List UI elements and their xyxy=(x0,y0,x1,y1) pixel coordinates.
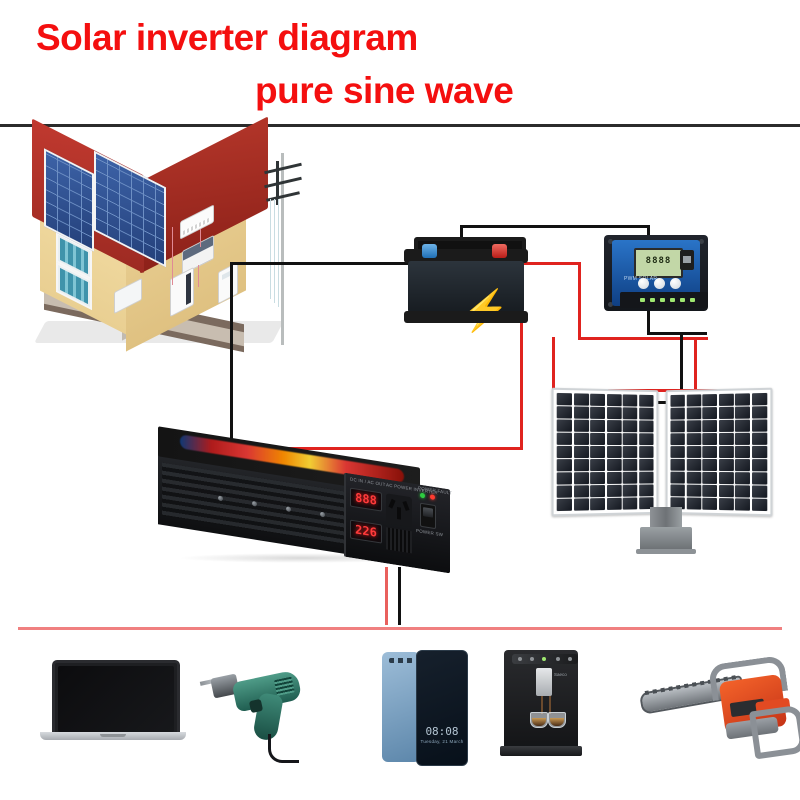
house-wiring-run-3 xyxy=(198,265,199,287)
laptop-screen xyxy=(58,666,174,732)
controller-button-set[interactable] xyxy=(638,278,649,289)
device-electric-drill xyxy=(200,654,320,760)
wire-array-feeder-left xyxy=(552,337,555,389)
service-drop-wire-3 xyxy=(278,199,279,307)
controller-front-panel: 8888 PWM SOLAR xyxy=(612,240,700,306)
coffee-cup-right xyxy=(548,712,566,728)
wire-battery-neg-top-horizontal xyxy=(460,225,650,228)
controller-led-6 xyxy=(690,298,695,302)
inverter-ac-outlet[interactable] xyxy=(386,493,412,527)
coffee-machine-body: Saeco xyxy=(504,650,578,752)
controller-led-3 xyxy=(660,298,665,302)
power-inverter-unit: DC IN / AC OUT AC POWER INVERTER POWER F… xyxy=(158,447,454,572)
devices-divider-rule xyxy=(18,627,782,630)
wire-battery-neg-to-inverter xyxy=(230,262,233,454)
solar-panel-right-cells xyxy=(670,393,767,511)
device-laptop xyxy=(40,660,186,750)
controller-lcd-display: 8888 xyxy=(634,248,683,278)
solar-panel-left-cells xyxy=(557,393,654,511)
inverter-power-led xyxy=(420,493,425,499)
coffee-machine-control-panel[interactable] xyxy=(512,654,578,664)
battery-base xyxy=(404,311,528,323)
house-wiring-run-1 xyxy=(172,227,173,285)
inverter-display-top: 888 xyxy=(350,488,382,512)
drill-trigger xyxy=(249,699,263,713)
solar-panel-array xyxy=(552,389,782,599)
wire-inverter-ac-output-neutral xyxy=(398,567,401,625)
laptop-lid xyxy=(52,660,180,738)
controller-led-4 xyxy=(670,298,675,302)
drill-power-cord xyxy=(268,734,299,763)
controller-led-5 xyxy=(680,298,685,302)
coffee-machine-spout xyxy=(536,668,552,696)
wire-battery-neg-left-horizontal xyxy=(230,262,410,265)
inverter-power-switch[interactable] xyxy=(420,503,436,530)
wire-controller-neg-to-terminal xyxy=(647,332,707,335)
wire-controller-pv-pos-drop xyxy=(694,337,697,389)
inverter-fault-led xyxy=(430,494,435,500)
controller-button-up[interactable] xyxy=(654,278,665,289)
coffee-cup-left xyxy=(530,712,548,728)
array-mount-base xyxy=(640,527,692,551)
house-illustration xyxy=(22,143,297,358)
house-wiring-run-2 xyxy=(200,229,201,247)
battery-negative-terminal xyxy=(422,244,437,258)
smartphone-clock-date: Tuesday, 21 March xyxy=(417,739,467,744)
controller-usb-port[interactable] xyxy=(680,250,694,270)
smartphone-camera-module xyxy=(389,658,413,663)
smartphone-front-display: 08:08 Tuesday, 21 March xyxy=(416,650,468,766)
header-banner: Solar inverter diagram pure sine wave xyxy=(0,0,800,124)
inverter-switch-label: POWER SW xyxy=(416,528,443,537)
powered-devices-band: 08:08 Tuesday, 21 March Saeco xyxy=(0,632,800,800)
service-drop-wire-2 xyxy=(274,199,275,303)
controller-terminal-strip xyxy=(620,292,708,308)
smartphone-clock-time: 08:08 xyxy=(417,725,467,738)
wire-battery-pos-riser xyxy=(578,262,581,340)
chainsaw-rear-handle xyxy=(749,705,800,760)
wire-inverter-ac-output-live xyxy=(385,567,388,625)
coffee-machine-drip-tray xyxy=(500,746,582,756)
device-smartphone: 08:08 Tuesday, 21 March xyxy=(382,650,468,764)
coffee-machine-brand-label: Saeco xyxy=(554,672,567,677)
laptop-trackpad-notch xyxy=(100,734,126,737)
inverter-vent-grille xyxy=(386,527,412,553)
array-mount-neck xyxy=(650,507,682,529)
device-coffee-machine: Saeco xyxy=(500,650,586,766)
drill-vent xyxy=(274,677,295,696)
solar-panel-left xyxy=(552,388,659,517)
controller-led-2 xyxy=(650,298,655,302)
utility-pole xyxy=(262,145,304,345)
inverter-display-bottom: 226 xyxy=(350,520,382,544)
controller-led-1 xyxy=(640,298,645,302)
charge-controller-unit: 8888 PWM SOLAR xyxy=(604,235,708,317)
battery-case: ⚡ xyxy=(408,261,524,313)
solar-panel-right xyxy=(666,388,773,517)
battery-unit: ⚡ xyxy=(400,237,532,329)
battery-positive-terminal xyxy=(492,244,507,258)
service-drop-wire-1 xyxy=(270,199,271,299)
device-chainsaw xyxy=(640,656,790,766)
array-mount-foot xyxy=(636,549,696,554)
inverter-front-panel: DC IN / AC OUT AC POWER INVERTER POWER F… xyxy=(344,473,450,574)
inverter-dc-label: DC IN / AC OUT xyxy=(350,477,386,488)
controller-button-menu[interactable] xyxy=(670,278,681,289)
page-title-line-1: Solar inverter diagram xyxy=(36,17,418,59)
page-title-line-2: pure sine wave xyxy=(255,70,513,112)
diagram-stage: ⚡ 8888 PWM SOLAR xyxy=(0,127,800,622)
smartphone-rear-shell xyxy=(382,652,420,762)
wire-controller-pos-terminal xyxy=(578,337,708,340)
